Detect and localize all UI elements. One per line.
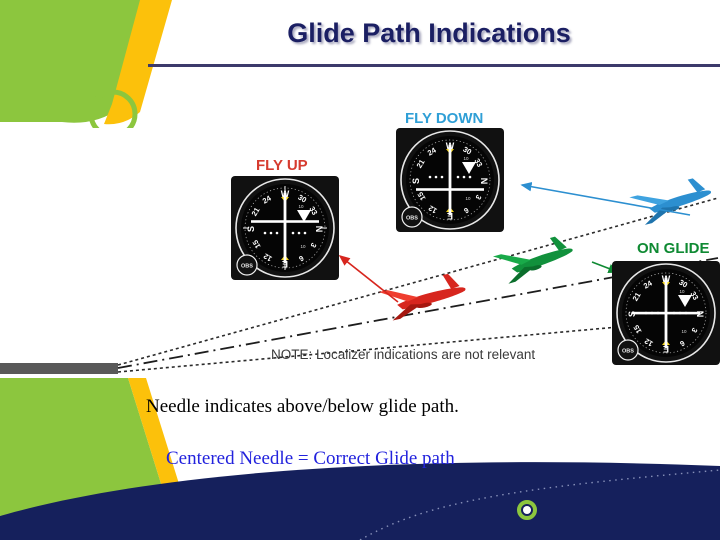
svg-text:10: 10 <box>681 329 687 334</box>
on-glide-label: ON GLIDE <box>637 240 710 257</box>
svg-text:OBS: OBS <box>622 349 634 355</box>
body-text-line-1: Needle indicates above/below glide path. <box>146 396 666 418</box>
title-divider <box>148 64 720 67</box>
diagram-note: NOTE: Localizer indications are not rele… <box>271 347 535 362</box>
svg-text:S: S <box>411 178 421 184</box>
fly-down-cdi: W E S N 24 21 15 12 6 3 33 30 <box>396 128 504 232</box>
glide-path-diagram: W E S N 24 21 15 12 6 3 33 30 <box>0 80 720 380</box>
svg-text:10: 10 <box>679 289 685 294</box>
svg-text:10: 10 <box>298 204 304 209</box>
svg-text:10: 10 <box>300 244 306 249</box>
blue-aircraft <box>629 175 715 227</box>
fly-down-label: FLY DOWN <box>405 110 483 127</box>
svg-text:N: N <box>314 226 324 233</box>
svg-text:OBS: OBS <box>406 216 418 222</box>
svg-text:OBS: OBS <box>241 264 253 270</box>
svg-text:10: 10 <box>463 156 469 161</box>
fly-up-label: FLY UP <box>256 157 308 174</box>
body-text-line-2: Centered Needle = Correct Glide path <box>166 448 686 470</box>
page-title: Glide Path Indications <box>148 18 710 49</box>
svg-text:10: 10 <box>465 196 471 201</box>
slide: Glide Path Indications <box>0 0 720 540</box>
fly-up-cdi: W E S N 24 21 15 12 6 3 33 30 <box>231 176 339 280</box>
diagram-graphics: W E S N 24 21 15 12 6 3 33 30 <box>0 80 720 380</box>
svg-text:N: N <box>479 178 489 185</box>
on-glide-cdi: W E S N 24 21 15 12 6 3 33 30 <box>612 261 720 365</box>
svg-text:S: S <box>246 226 256 232</box>
